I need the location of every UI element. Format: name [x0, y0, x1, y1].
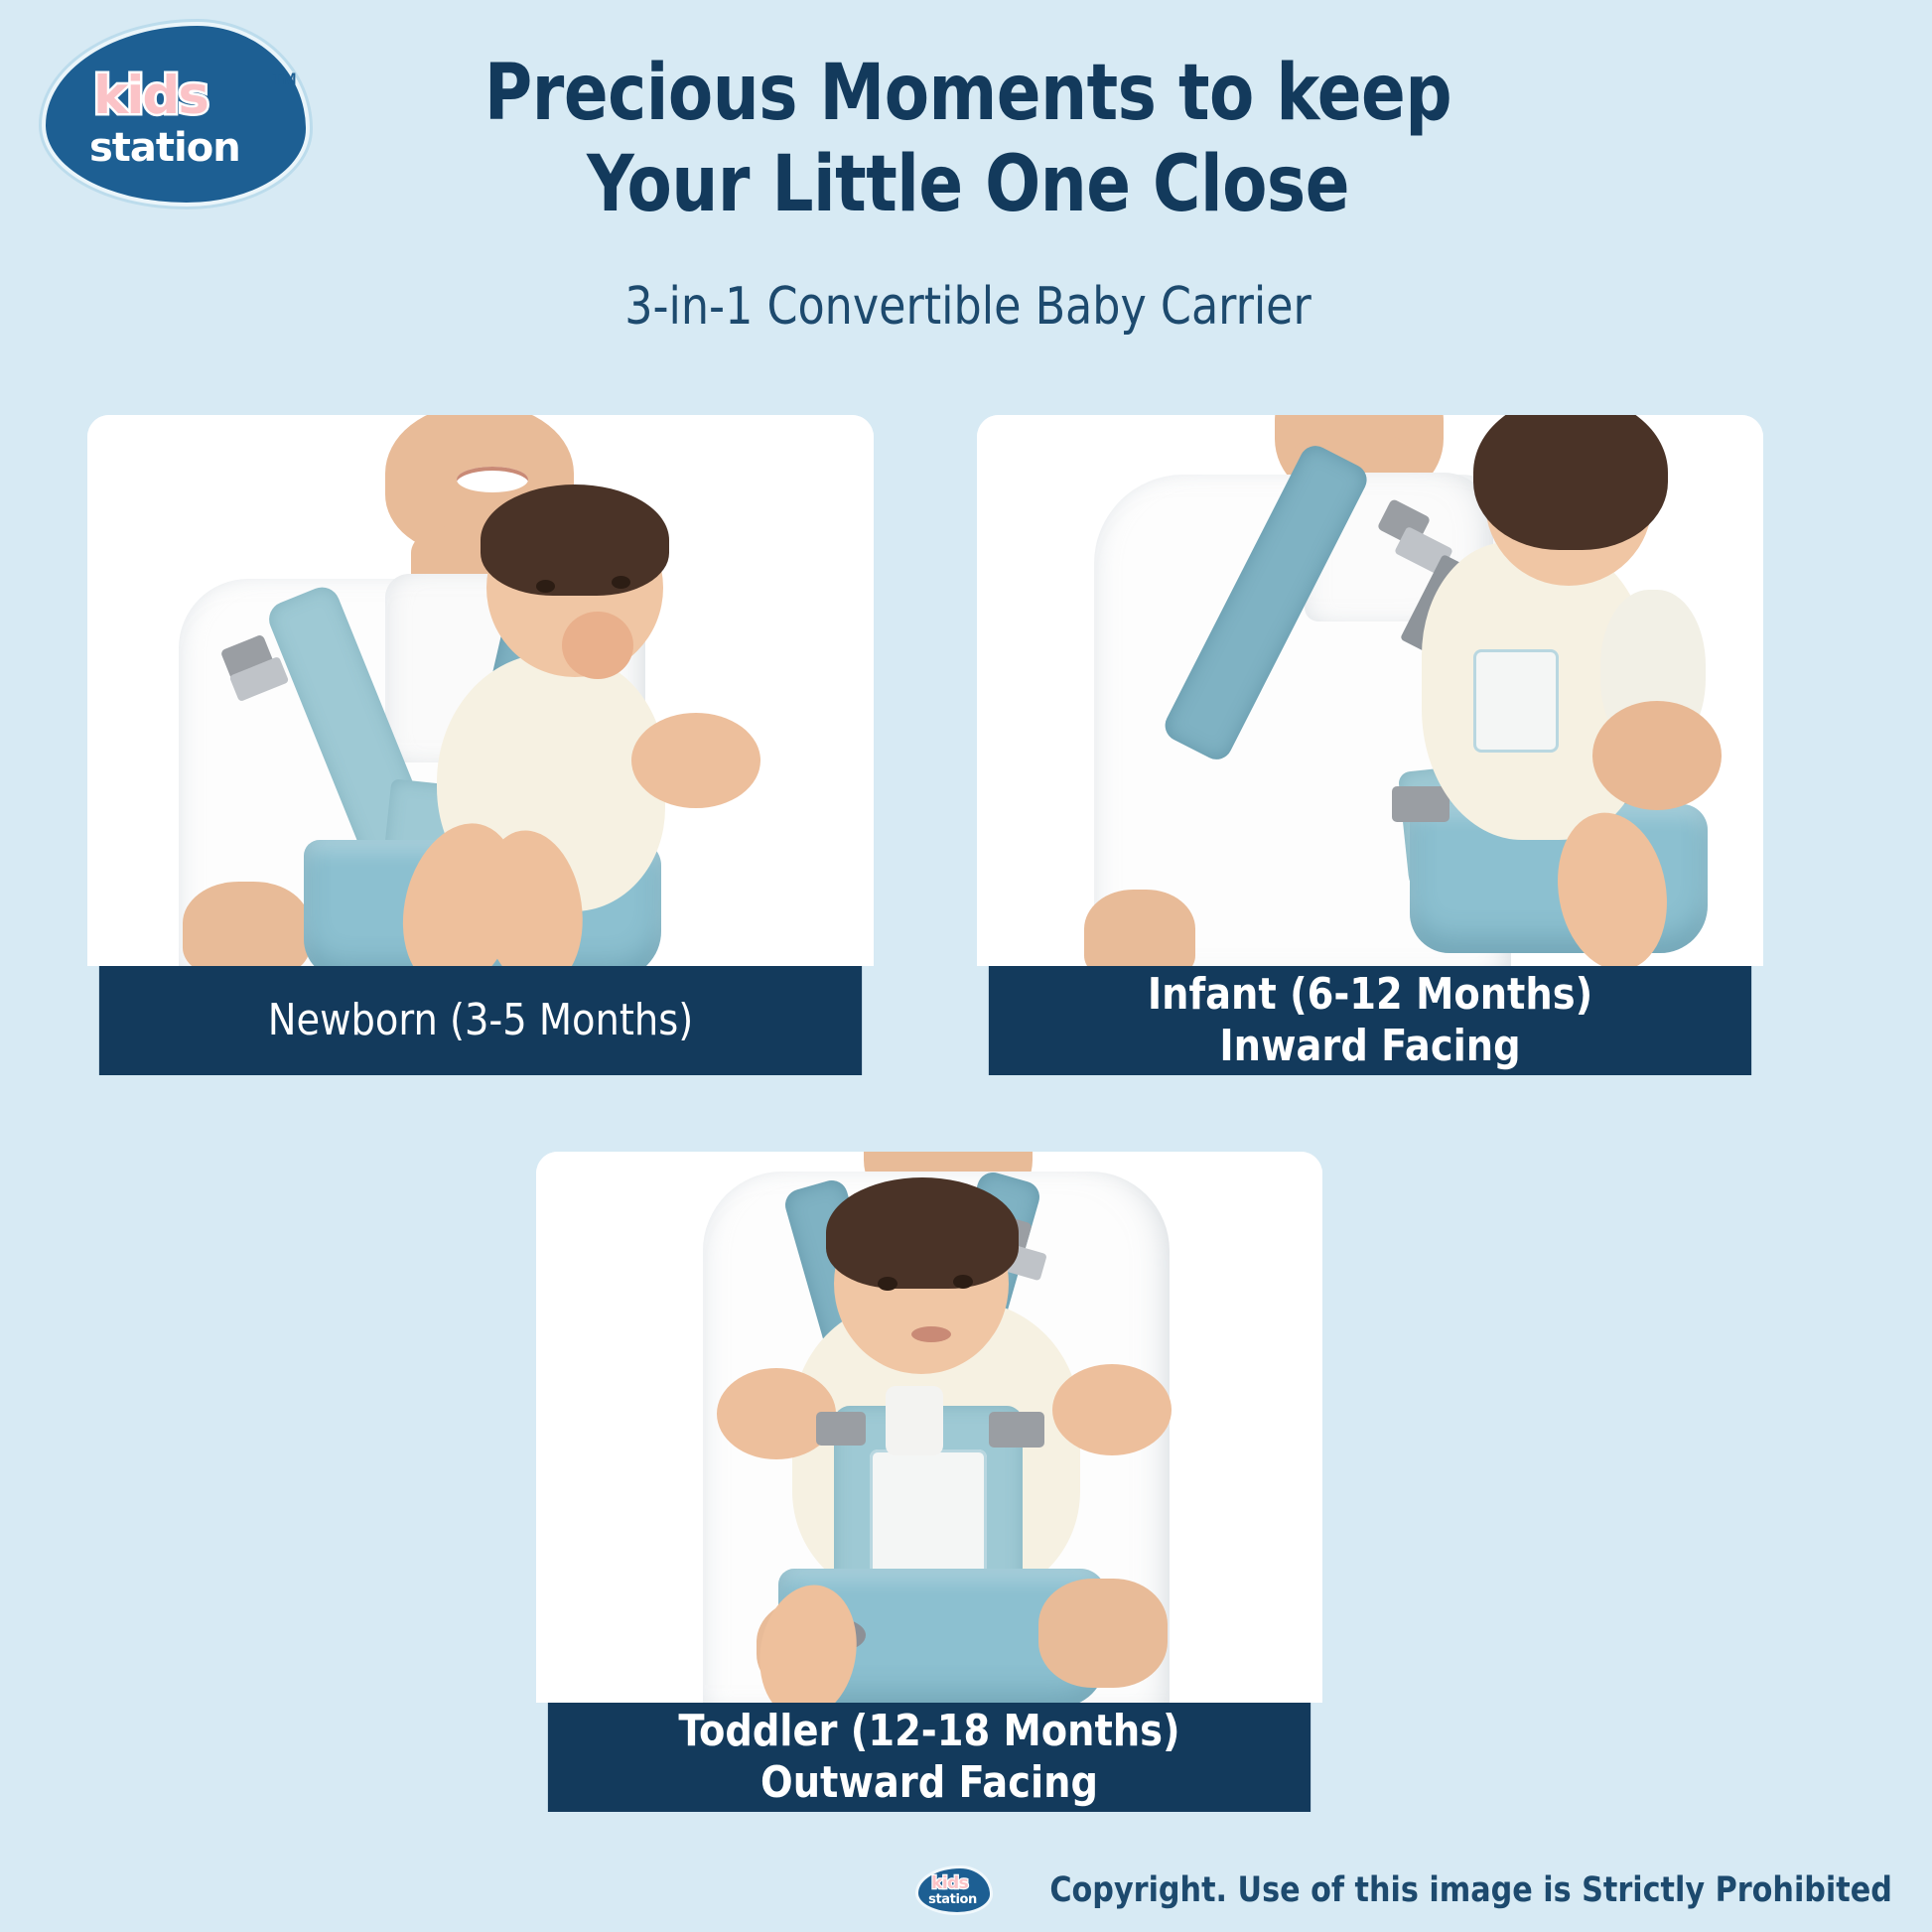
brand-logo: kids station TM [42, 22, 320, 210]
product-card-toddler: kids station Toddler (12-18 Months) Outw… [536, 1152, 1322, 1812]
buckle-side-left [816, 1412, 866, 1446]
card-caption-newborn: Newborn (3-5 Months) [99, 966, 862, 1075]
logo-text-kids: kids [93, 66, 207, 126]
logo-text-station: station [89, 125, 240, 171]
baby-eye-left [878, 1277, 897, 1291]
page-subtitle: 3-in-1 Convertible Baby Carrier [359, 278, 1577, 336]
page-title-line-1: Precious Moments to keep [366, 48, 1571, 139]
father-arm [183, 882, 310, 966]
baby-hair [826, 1177, 1019, 1289]
baby-eye-right [953, 1275, 973, 1289]
baby-hair-back-of-head [1473, 415, 1668, 550]
caption-line-1: Infant (6-12 Months) [1148, 969, 1592, 1021]
photo-scene: kids station [977, 415, 1763, 966]
page-footer: kids station Copyright. Use of this imag… [0, 1849, 1932, 1932]
product-photo-newborn: kids station [87, 415, 874, 966]
footer-logo-text-station: station [928, 1892, 977, 1907]
buckle-waist [1392, 786, 1449, 822]
card-caption-infant: Infant (6-12 Months) Inward Facing [989, 966, 1751, 1075]
baby-mouth [911, 1326, 951, 1342]
father-hand-supporting-baby [631, 713, 760, 808]
father-smile [457, 467, 528, 492]
baby-hand-at-mouth [562, 612, 633, 679]
baby-hair [481, 484, 669, 596]
product-photo-infant: kids station [977, 415, 1763, 966]
caption-line-1: Toddler (12-18 Months) [678, 1706, 1179, 1757]
buckle-side-right [989, 1412, 1044, 1448]
page-title-line-2: Your Little One Close [366, 139, 1571, 230]
baby-arm-right [1052, 1364, 1172, 1455]
baby-eye-right [612, 576, 630, 589]
photo-scene: kids station [536, 1152, 1322, 1703]
product-card-infant: kids station Infant (6-12 Months) Inward… [977, 415, 1763, 1075]
carrier-teether-clip [886, 1386, 943, 1455]
carrier-mesh-panel [1473, 649, 1559, 753]
trademark-symbol: TM [272, 69, 297, 89]
father-arm [1084, 890, 1195, 966]
product-photo-toddler: kids station [536, 1152, 1322, 1703]
page-title: Precious Moments to keep Your Little One… [366, 48, 1571, 230]
product-card-newborn: kids station Newborn (3-5 Months) [87, 415, 874, 1075]
caption-line-2: Inward Facing [1148, 1021, 1592, 1072]
photo-scene: kids station [87, 415, 874, 966]
page-header: kids station TM Precious Moments to keep… [0, 0, 1932, 338]
card-caption-toddler: Toddler (12-18 Months) Outward Facing [548, 1703, 1311, 1812]
footer-brand-logo: kids station [915, 1865, 993, 1915]
footer-logo-text-kids: kids [931, 1873, 968, 1893]
father-hand-supporting-baby [1592, 701, 1722, 810]
copyright-notice: Copyright. Use of this image is Strictly… [1049, 1870, 1892, 1910]
caption-line-2: Outward Facing [678, 1757, 1179, 1809]
caption-line-1: Newborn (3-5 Months) [268, 995, 693, 1046]
baby-eye-left [536, 580, 555, 593]
father-hand-right [1038, 1579, 1168, 1688]
